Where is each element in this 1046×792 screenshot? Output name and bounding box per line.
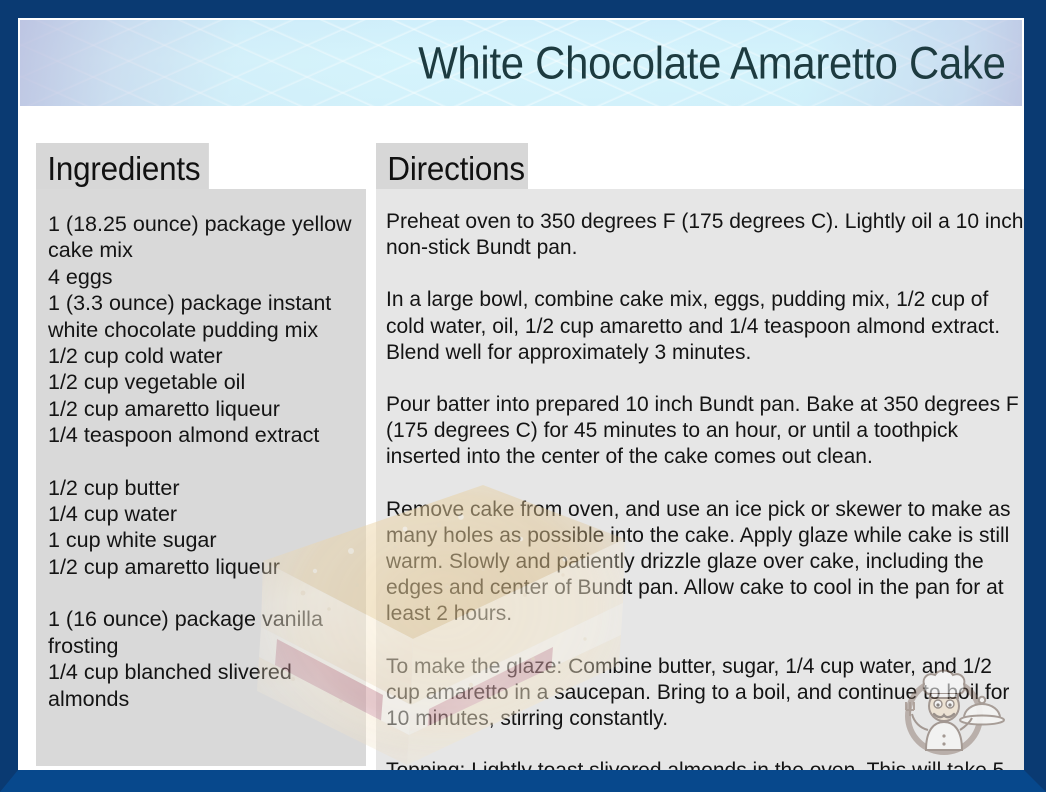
- ingredient-item: 1 cup white sugar: [48, 527, 354, 553]
- direction-step: Topping: Lightly toast slivered almonds …: [386, 758, 1025, 770]
- ingredient-group: 1 (18.25 ounce) package yellow cake mix …: [48, 211, 354, 449]
- ingredient-item: 1/2 cup cold water: [48, 343, 354, 369]
- ingredients-heading: Ingredients: [36, 143, 209, 189]
- direction-step: In a large bowl, combine cake mix, eggs,…: [386, 287, 1025, 366]
- ingredient-item: 1/4 cup blanched slivered almonds: [48, 659, 354, 712]
- title-banner: White Chocolate Amaretto Cake: [20, 20, 1022, 106]
- direction-step: Pour batter into prepared 10 inch Bundt …: [386, 392, 1025, 471]
- ingredient-group: 1/2 cup butter 1/4 cup water 1 cup white…: [48, 475, 354, 581]
- direction-step: To make the glaze: Combine butter, sugar…: [386, 654, 1025, 733]
- page-title: White Chocolate Amaretto Cake: [419, 41, 1006, 86]
- ingredient-item: 1/2 cup amaretto liqueur: [48, 554, 354, 580]
- ingredient-item: 1 (18.25 ounce) package yellow cake mix: [48, 211, 354, 264]
- slide-canvas: White Chocolate Amaretto Cake Ingredient…: [0, 0, 1046, 792]
- ingredient-item: 1/4 cup water: [48, 501, 354, 527]
- ingredient-item: 1 (3.3 ounce) package instant white choc…: [48, 290, 354, 343]
- ingredient-item: 1/2 cup vegetable oil: [48, 369, 354, 395]
- direction-step: Preheat oven to 350 degrees F (175 degre…: [386, 209, 1025, 261]
- ingredient-item: 1/4 teaspoon almond extract: [48, 422, 354, 448]
- directions-heading: Directions: [376, 143, 528, 189]
- slide-content-area: White Chocolate Amaretto Cake Ingredient…: [18, 18, 1024, 770]
- direction-step: Remove cake from oven, and use an ice pi…: [386, 497, 1025, 628]
- ingredient-item: 4 eggs: [48, 264, 354, 290]
- ingredient-item: 1 (16 ounce) package vanilla frosting: [48, 606, 354, 659]
- ingredient-item: 1/2 cup butter: [48, 475, 354, 501]
- ingredients-list: 1 (18.25 ounce) package yellow cake mix …: [36, 189, 366, 766]
- ingredient-item: 1/2 cup amaretto liqueur: [48, 396, 354, 422]
- directions-list: Preheat oven to 350 degrees F (175 degre…: [376, 189, 1035, 770]
- ingredient-group: 1 (16 ounce) package vanilla frosting 1/…: [48, 606, 354, 712]
